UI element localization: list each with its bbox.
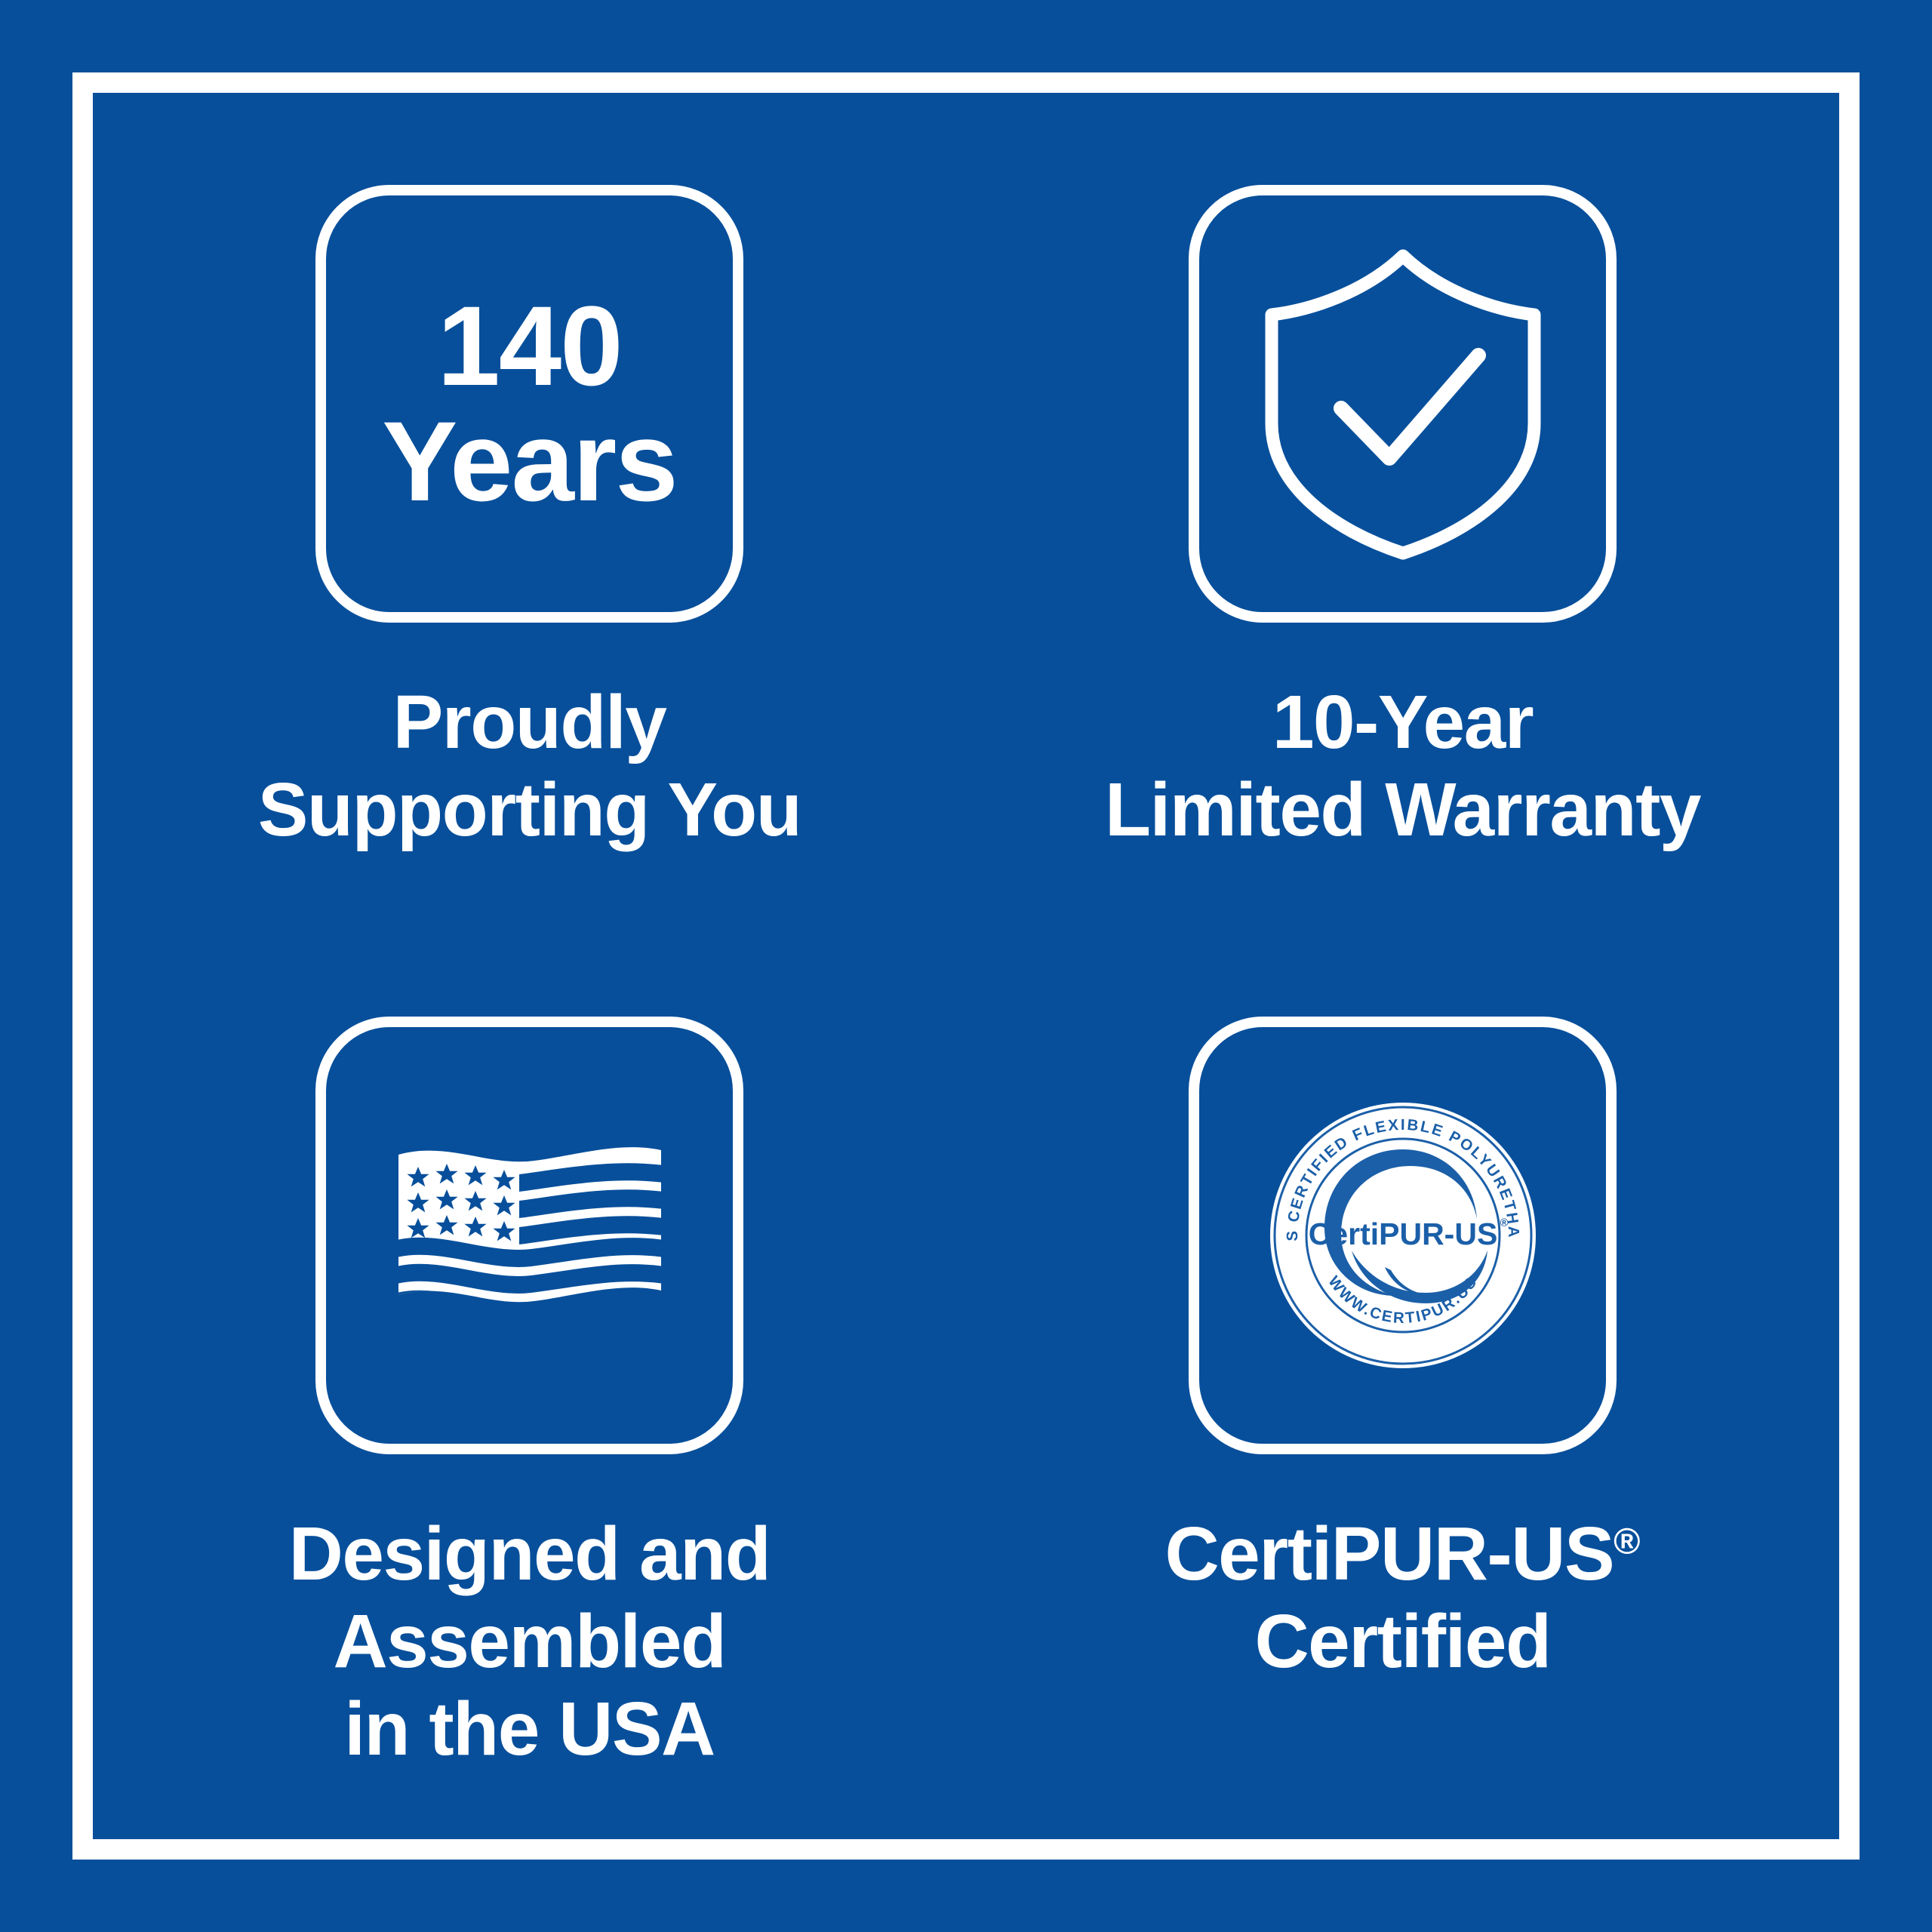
- warranty-icon-box: [1189, 185, 1617, 623]
- years-badge-icon: 140 Years: [315, 185, 743, 623]
- certipur-us-seal-icon: CertiPUR-US ® CONTAINS CERTIFIED FLEXIBL…: [1270, 1103, 1536, 1368]
- years-word: Years: [382, 404, 676, 519]
- shield-check-icon: [1252, 245, 1554, 562]
- infographic-canvas: 140 Years Proudly Supporting You 10-Year…: [0, 0, 1932, 1932]
- certipur-caption-main: CertiPUR-US: [1164, 1512, 1614, 1596]
- usa-flag-icon: [394, 1141, 666, 1330]
- feature-card-usa: Designed and Assembled in the USA: [93, 966, 966, 1839]
- feature-caption-years: Proudly Supporting You: [258, 678, 801, 854]
- years-badge-text: 140 Years: [382, 288, 676, 519]
- registered-mark: ®: [1614, 1522, 1640, 1562]
- feature-card-years: 140 Years Proudly Supporting You: [93, 93, 966, 966]
- certipur-icon-box: CertiPUR-US ® CONTAINS CERTIFIED FLEXIBL…: [1189, 1017, 1617, 1454]
- certipur-caption-second: Certified: [1254, 1599, 1550, 1684]
- usa-icon-box: [315, 1017, 743, 1454]
- feature-caption-warranty: 10-Year Limited Warranty: [1105, 678, 1700, 854]
- feature-caption-usa: Designed and Assembled in the USA: [289, 1510, 771, 1773]
- feature-card-warranty: 10-Year Limited Warranty: [966, 93, 1839, 966]
- feature-grid: 140 Years Proudly Supporting You 10-Year…: [93, 93, 1839, 1839]
- certipur-seal-wordmark: CertiPUR-US: [1308, 1217, 1497, 1251]
- feature-card-certipur: CertiPUR-US ® CONTAINS CERTIFIED FLEXIBL…: [966, 966, 1839, 1839]
- feature-caption-certipur: CertiPUR-US® Certified: [1164, 1510, 1640, 1685]
- years-number: 140: [437, 288, 621, 404]
